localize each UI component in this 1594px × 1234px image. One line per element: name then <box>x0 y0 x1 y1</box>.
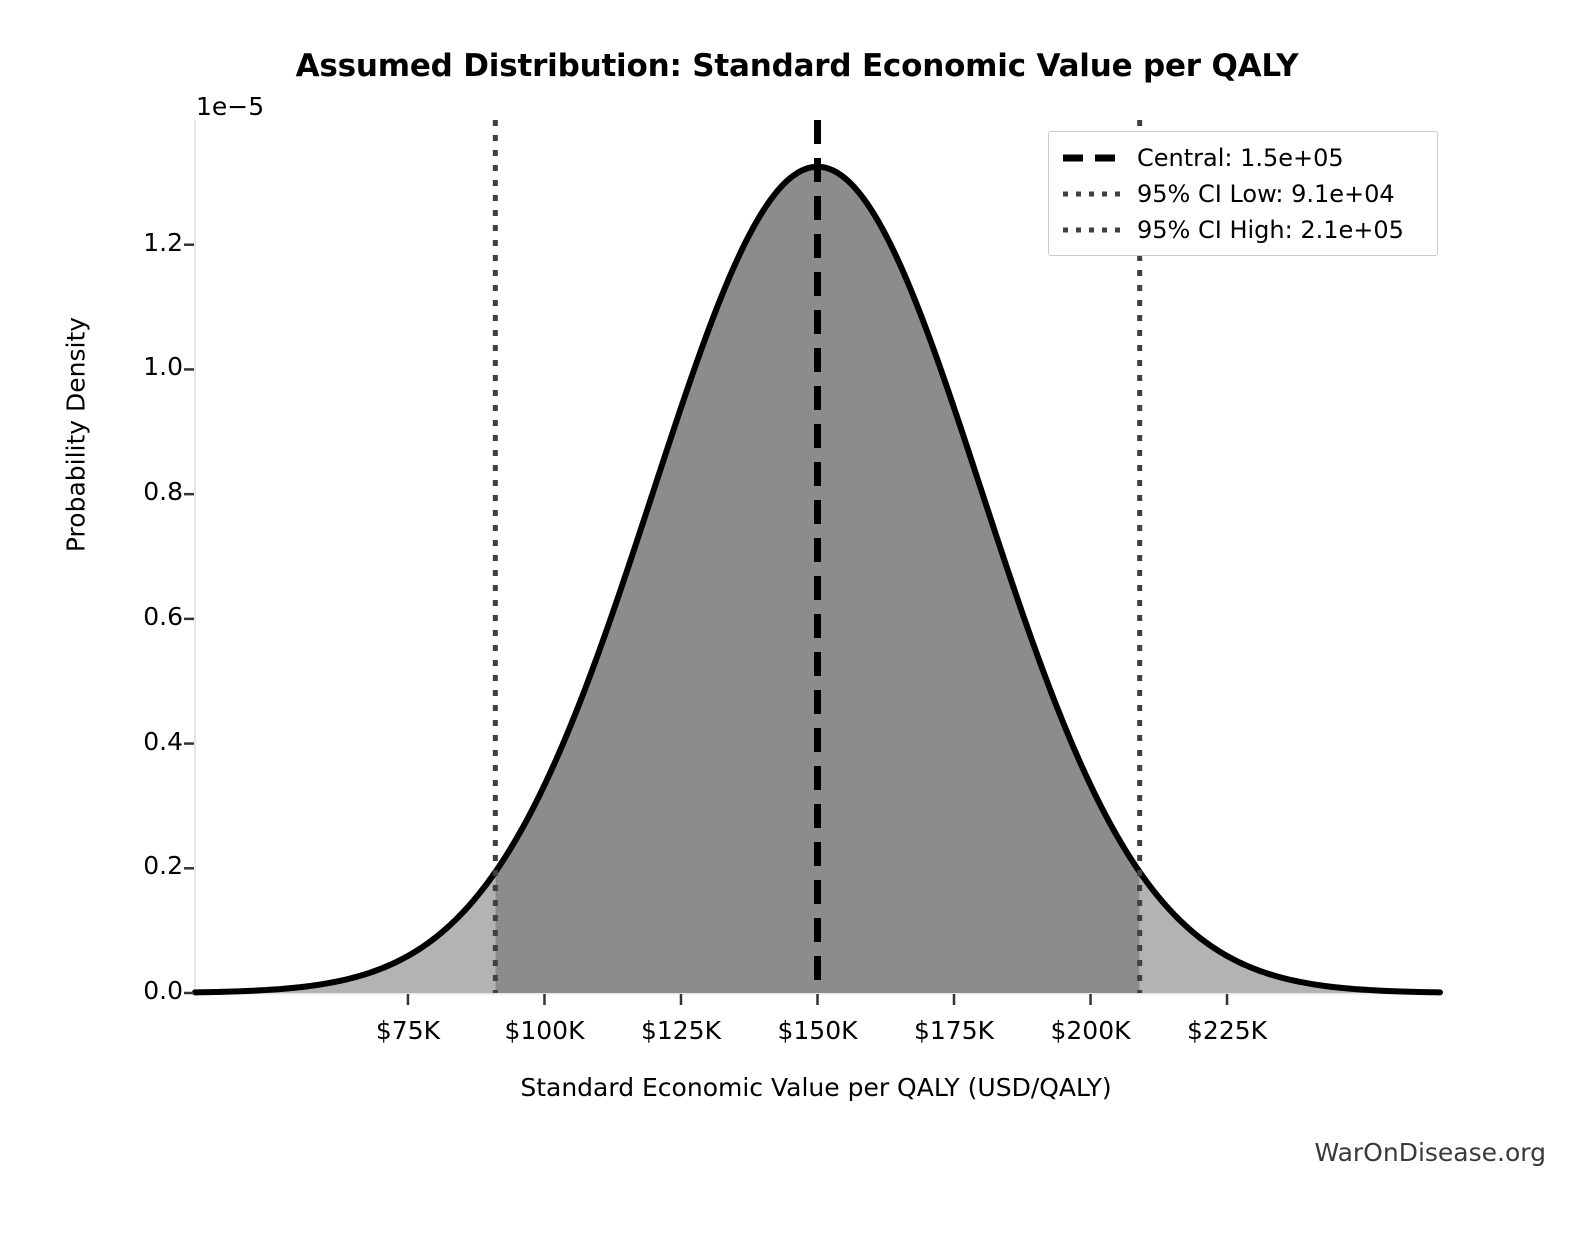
legend-swatch-dotted-low <box>1061 184 1123 204</box>
y-tick-label: 1.2 <box>63 228 183 257</box>
x-tick-label: $225K <box>1137 1016 1317 1045</box>
distribution-fill-below-ci-low <box>195 872 495 993</box>
legend-swatch-dashed <box>1061 148 1123 168</box>
legend-swatch-dotted-high <box>1061 220 1123 240</box>
figure-canvas: Assumed Distribution: Standard Economic … <box>0 0 1594 1234</box>
y-tick-label: 0.0 <box>63 976 183 1005</box>
distribution-fill-above-ci-high <box>1140 872 1440 993</box>
y-tick-label: 0.4 <box>63 727 183 756</box>
y-tick-label: 0.8 <box>63 477 183 506</box>
legend-label-ci-low: 95% CI Low: 9.1e+04 <box>1137 180 1395 208</box>
y-axis-ticks <box>184 245 194 993</box>
x-axis-ticks <box>408 994 1227 1005</box>
legend-item-ci-low: 95% CI Low: 9.1e+04 <box>1061 176 1425 212</box>
legend-item-ci-high: 95% CI High: 2.1e+05 <box>1061 212 1425 248</box>
legend-item-central: Central: 1.5e+05 <box>1061 140 1425 176</box>
legend-label-ci-high: 95% CI High: 2.1e+05 <box>1137 216 1404 244</box>
legend-label-central: Central: 1.5e+05 <box>1137 144 1344 172</box>
y-tick-label: 1.0 <box>63 352 183 381</box>
watermark: WarOnDisease.org <box>1314 1138 1546 1167</box>
y-tick-label: 0.2 <box>63 851 183 880</box>
chart-legend: Central: 1.5e+05 95% CI Low: 9.1e+04 95%… <box>1048 131 1438 256</box>
y-tick-label: 0.6 <box>63 602 183 631</box>
